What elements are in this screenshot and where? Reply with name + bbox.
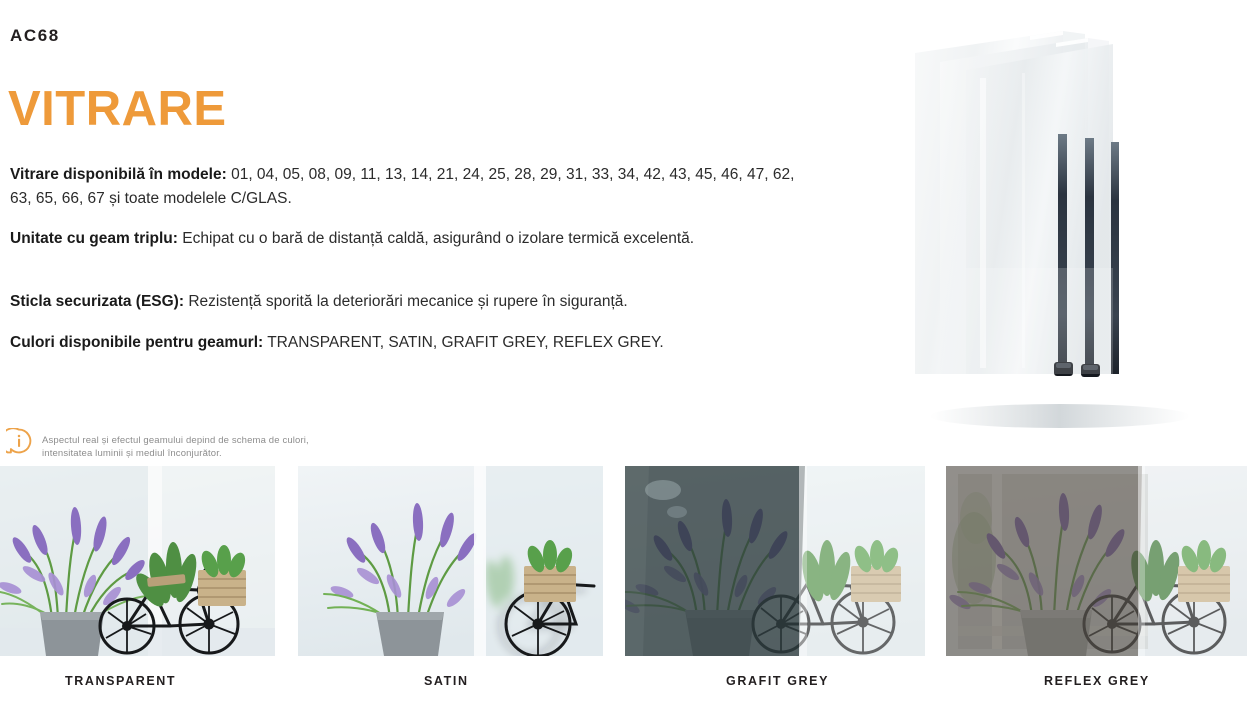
spec-value: TRANSPARENT, SATIN, GRAFIT GREY, REFLEX … (263, 334, 664, 351)
info-circle-icon (6, 428, 32, 454)
disclaimer-line-1: Aspectul real și efectul geamului depind… (42, 435, 309, 446)
sample-scene (0, 466, 275, 656)
sample-tile-grafit-grey (625, 466, 925, 656)
spec-label: Sticla securizata (ESG): (10, 293, 184, 310)
spec-label: Vitrare disponibilă în modele: (10, 166, 227, 183)
sample-tile-satin (298, 466, 603, 656)
spec-value: Rezistență sporită la deteriorări mecani… (184, 293, 628, 310)
sample-scene (625, 466, 925, 656)
spec-value: Echipat cu o bară de distanță caldă, asi… (178, 230, 694, 247)
sample-caption-reflex-grey: REFLEX GREY (1044, 674, 1150, 688)
spec-paragraph-colours: Culori disponibile pentru geamurl: TRANS… (10, 331, 810, 355)
page-title: VITRARE (8, 85, 227, 134)
sample-caption-grafit-grey: GRAFIT GREY (726, 674, 829, 688)
sample-scene (946, 466, 1247, 656)
spec-label: Unitate cu geam triplu: (10, 230, 178, 247)
sample-caption-transparent: TRANSPARENT (65, 674, 176, 688)
triple-glazed-glass-unit-image (880, 18, 1210, 448)
spec-paragraph-triple-glazing: Unitate cu geam triplu: Echipat cu o bar… (10, 227, 810, 251)
sample-tile-transparent (0, 466, 275, 656)
sample-caption-satin: SATIN (424, 674, 469, 688)
disclaimer-line-2: intensitatea luminii și mediul înconjură… (42, 448, 222, 459)
disclaimer-note: Aspectul real și efectul geamului depind… (6, 428, 466, 461)
product-code: AC68 (10, 26, 60, 46)
datasheet-page: AC68 VITRARE Vitrare disponibilă în mode… (0, 0, 1255, 711)
sample-scene (298, 466, 603, 656)
spec-paragraph-models: Vitrare disponibilă în modele: 01, 04, 0… (10, 163, 810, 211)
sample-tile-reflex-grey (946, 466, 1247, 656)
spec-label: Culori disponibile pentru geamurl: (10, 334, 263, 351)
disclaimer-text: Aspectul real și efectul geamului depind… (42, 428, 309, 461)
spec-paragraph-safety-glass: Sticla securizata (ESG): Rezistență spor… (10, 290, 810, 314)
